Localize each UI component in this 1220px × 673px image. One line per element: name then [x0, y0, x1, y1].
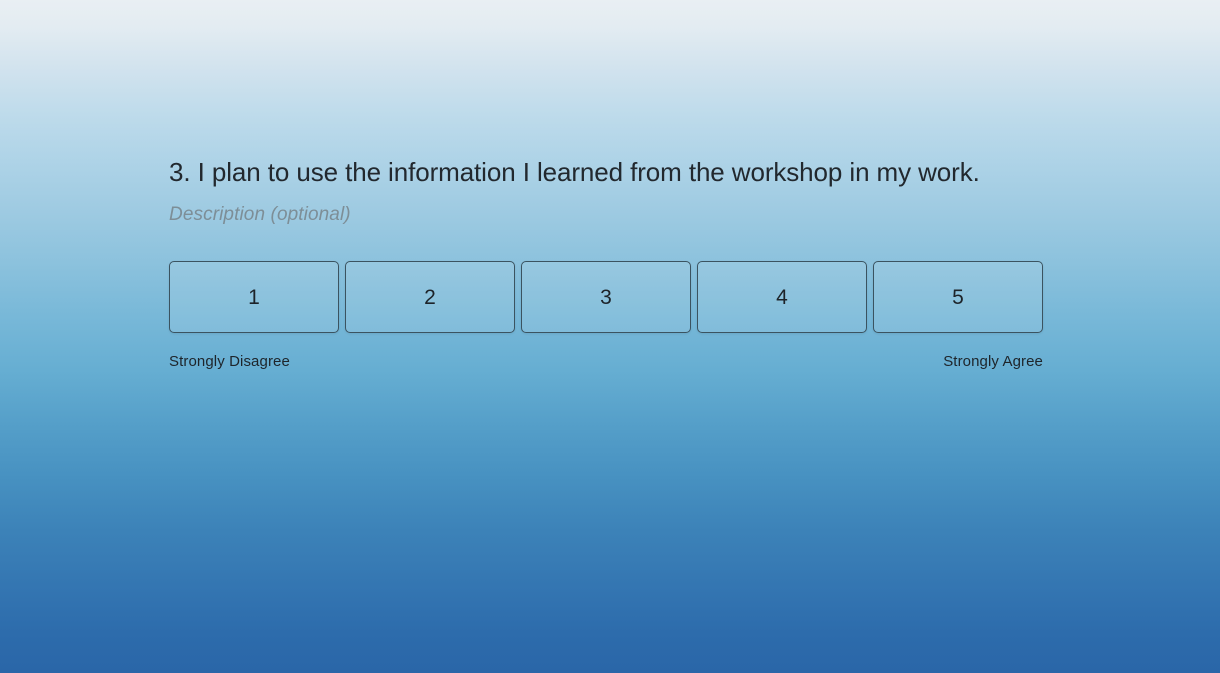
question-block: 3. I plan to use the information I learn…	[169, 152, 1044, 371]
question-description-placeholder[interactable]: Description (optional)	[169, 203, 1044, 227]
scale-option-1[interactable]: 1	[169, 261, 339, 333]
page-title: 3. I plan to use the information I learn…	[169, 152, 1024, 192]
scale-option-2[interactable]: 2	[345, 261, 515, 333]
scale-option-3[interactable]: 3	[521, 261, 691, 333]
likert-scale-options: 1 2 3 4 5	[169, 261, 1043, 333]
anchor-label-high: Strongly Agree	[943, 353, 1043, 371]
anchor-label-low: Strongly Disagree	[169, 353, 290, 371]
scale-option-4[interactable]: 4	[697, 261, 867, 333]
scale-anchor-labels: Strongly Disagree Strongly Agree	[169, 353, 1043, 371]
scale-option-5[interactable]: 5	[873, 261, 1043, 333]
presentation-slide: 3. I plan to use the information I learn…	[0, 0, 1220, 673]
